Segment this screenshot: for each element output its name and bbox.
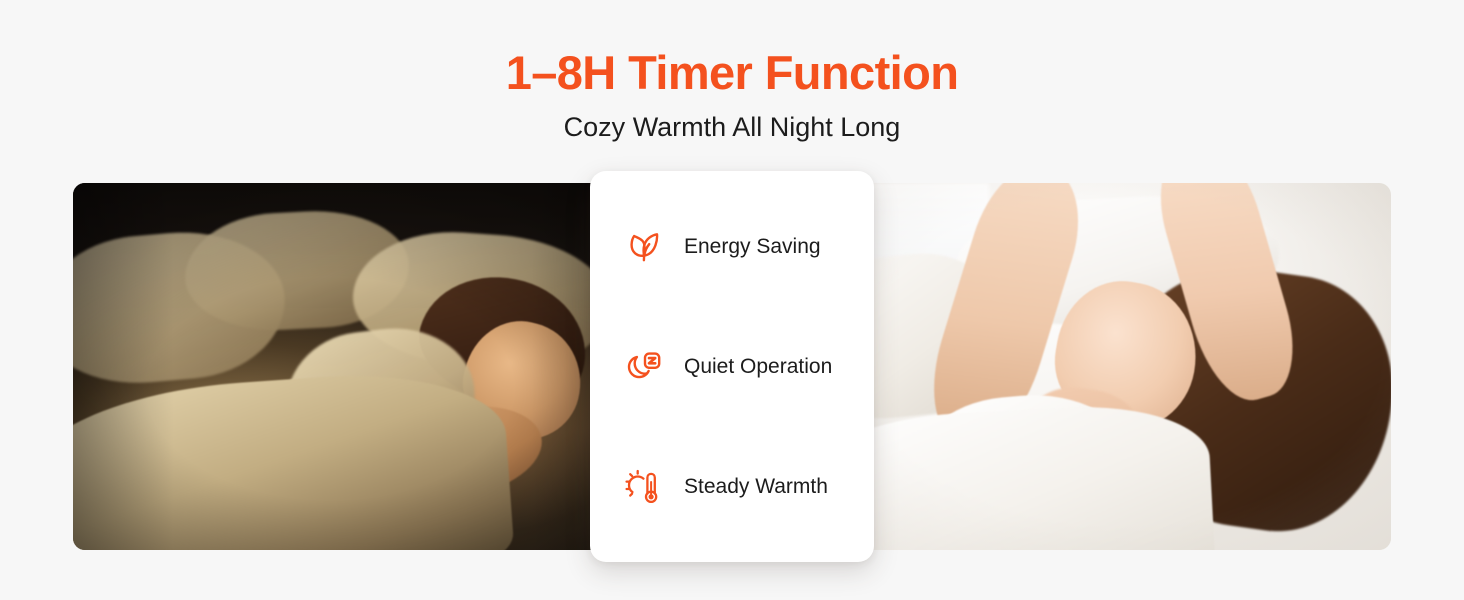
feature-list: Energy Saving Quiet Operation [590,171,874,562]
morning-scene [832,183,1391,550]
feature-card: Energy Saving Quiet Operation [590,171,874,562]
morning-vignette [832,183,1391,550]
feature-item-energy-saving: Energy Saving [622,217,874,277]
feature-item-quiet-operation: Quiet Operation [622,337,874,397]
feature-label: Steady Warmth [684,474,828,500]
feature-label: Energy Saving [684,234,821,260]
thermometer-sun-icon [622,465,666,509]
night-vignette [73,183,632,550]
photo-sleeping-woman-night [73,183,632,550]
leaf-icon [622,225,666,269]
feature-label: Quiet Operation [684,354,832,380]
photo-waking-woman-morning [832,183,1391,550]
feature-item-steady-warmth: Steady Warmth [622,457,874,517]
promo-banner: 1–8H Timer Function Cozy Warmth All Nigh… [0,0,1464,600]
moon-zzz-icon [622,345,666,389]
page-subtitle: Cozy Warmth All Night Long [0,109,1464,145]
page-title: 1–8H Timer Function [0,44,1464,102]
night-scene [73,183,632,550]
